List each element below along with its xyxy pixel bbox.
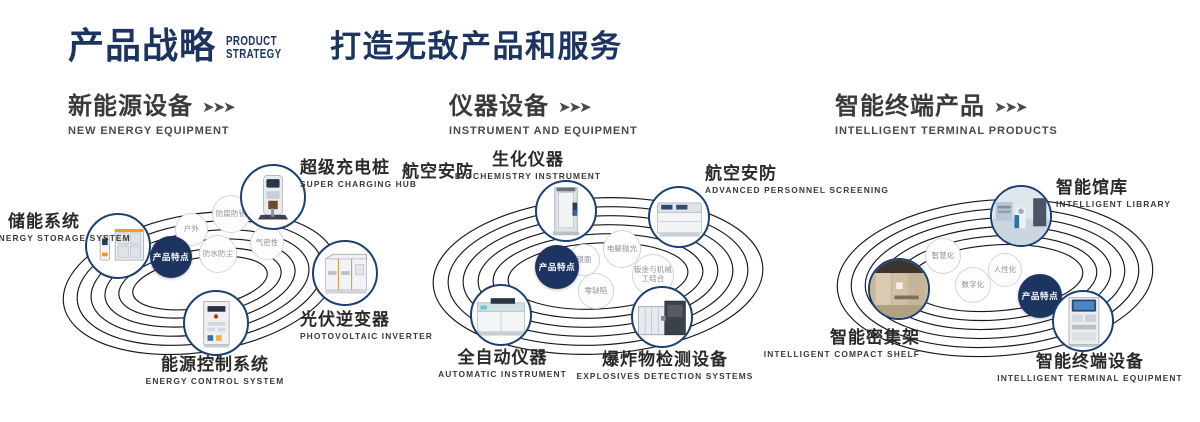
node-advanced-personnel-screening[interactable] (648, 186, 710, 248)
section-title-cn: 智能终端产品 (835, 95, 985, 119)
cluster-intelligent-terminal-products: 智慧化 数字化 人性化 产品特点 智能馆库 INTELLIGENT LIBRAR… (800, 150, 1200, 400)
label-intelligent-terminal-equipment: 智能终端设备 INTELLIGENT TERMINAL EQUIPMENT (980, 352, 1200, 383)
explosive-detector-icon (633, 288, 691, 346)
node-label-cn: 生化仪器 (438, 150, 618, 170)
section-title-en: INSTRUMENT AND EQUIPMENT (449, 125, 638, 137)
node-explosives-detection-systems[interactable] (631, 286, 693, 348)
compact-shelf-icon (870, 260, 928, 318)
feature-bubble: 零缺陷 (578, 273, 614, 309)
node-intelligent-library[interactable] (990, 185, 1052, 247)
node-super-charging-hub[interactable] (240, 164, 306, 230)
node-intelligent-compact-shelf[interactable] (868, 258, 930, 320)
cluster-new-energy-equipment: 户外 防腐防锈 防水防尘 气密性 产品特点 储能系统 ENERGY STORAG… (0, 150, 400, 400)
label-intelligent-compact-shelf: 智能密集架 INTELLIGENT COMPACT SHELF (760, 328, 920, 359)
feature-bubble: 防水防尘 (199, 235, 237, 273)
node-label-en: INTELLIGENT TERMINAL EQUIPMENT (980, 373, 1200, 384)
core-bubble-label: 产品特点 (539, 262, 575, 272)
title-english-line2: STRATEGY (226, 48, 281, 61)
page-subtitle: 打造无敌产品和服务 (330, 30, 623, 64)
cluster-instrument-equipment: 镜面 电解抛光 钣金与机械工结合 零缺陷 产品特点 航空安防 生化仪器 BIOC… (400, 150, 800, 400)
feature-bubble: 气密性 (250, 226, 284, 260)
node-label-en: BIOCHEMISTRY INSTRUMENT (438, 171, 618, 182)
chevron-right-icon: ➤➤➤ (202, 98, 234, 116)
node-label-cn: 能源控制系统 (110, 355, 320, 375)
section-heading-new-energy: 新能源设备 ➤➤➤ NEW ENERGY EQUIPMENT (68, 95, 234, 137)
node-label-cn: 智能密集架 (760, 328, 920, 348)
section-title-cn: 新能源设备 (68, 95, 193, 119)
core-bubble: 产品特点 (535, 245, 579, 289)
node-intelligent-terminal-equipment[interactable] (1052, 290, 1114, 352)
page-title: 产品战略 PRODUCT STRATEGY (68, 28, 297, 64)
node-energy-control-system[interactable] (183, 290, 249, 356)
title-chinese: 产品战略 (68, 28, 216, 64)
automatic-analyzer-icon (472, 286, 530, 344)
core-bubble-label: 产品特点 (153, 252, 189, 262)
charging-pile-icon (242, 166, 304, 228)
node-label-cn: 储能系统 (0, 212, 80, 232)
node-biochemistry-instrument[interactable] (535, 180, 597, 242)
section-heading-intelligent-terminal: 智能终端产品 ➤➤➤ INTELLIGENT TERMINAL PRODUCTS (835, 95, 1058, 137)
node-automatic-instrument[interactable] (470, 284, 532, 346)
feature-bubble: 数字化 (955, 267, 991, 303)
node-label-en: INTELLIGENT LIBRARY (1056, 199, 1196, 210)
screening-machine-icon (650, 188, 708, 246)
library-interior-icon (992, 187, 1050, 245)
scanner-gate-icon (537, 182, 595, 240)
node-label-en: ENERGY STORAGE SYSTEM (0, 233, 80, 244)
chevron-right-icon: ➤➤➤ (994, 98, 1026, 116)
chevron-right-icon: ➤➤➤ (558, 98, 590, 116)
section-title-cn: 仪器设备 (449, 95, 549, 119)
node-label-cn: 爆炸物检测设备 (560, 350, 770, 370)
core-bubble-label: 产品特点 (1022, 291, 1058, 301)
node-label-en: INTELLIGENT COMPACT SHELF (760, 349, 920, 360)
section-heading-instrument: 仪器设备 ➤➤➤ INSTRUMENT AND EQUIPMENT (449, 95, 638, 137)
feature-bubble: 智慧化 (925, 238, 961, 274)
label-explosives-detection-systems: 爆炸物检测设备 EXPLOSIVES DETECTION SYSTEMS (560, 350, 770, 381)
section-title-en: NEW ENERGY EQUIPMENT (68, 125, 234, 137)
self-service-kiosk-icon (1054, 292, 1112, 350)
node-energy-storage-system[interactable] (85, 213, 151, 279)
node-label-en: ENERGY CONTROL SYSTEM (110, 376, 320, 387)
node-label-cn: 智能终端设备 (980, 352, 1200, 372)
node-label-en: EXPLOSIVES DETECTION SYSTEMS (560, 371, 770, 382)
inverter-cabinet-icon (314, 242, 376, 304)
product-strategy-infographic: 产品战略 PRODUCT STRATEGY 打造无敌产品和服务 新能源设备 ➤➤… (0, 0, 1200, 422)
feature-bubble: 人性化 (988, 253, 1022, 287)
label-energy-control-system: 能源控制系统 ENERGY CONTROL SYSTEM (110, 355, 320, 386)
label-intelligent-library: 智能馆库 INTELLIGENT LIBRARY (1056, 178, 1196, 209)
section-title-en: INTELLIGENT TERMINAL PRODUCTS (835, 125, 1058, 137)
battery-cabinet-icon (87, 215, 149, 277)
node-label-cn: 智能馆库 (1056, 178, 1196, 198)
core-bubble: 产品特点 (150, 236, 192, 278)
label-biochemistry-instrument: 生化仪器 BIOCHEMISTRY INSTRUMENT (438, 150, 618, 181)
control-cabinet-icon (185, 292, 247, 354)
node-photovoltaic-inverter[interactable] (312, 240, 378, 306)
title-english: PRODUCT STRATEGY (226, 35, 281, 61)
label-energy-storage-system: 储能系统 ENERGY STORAGE SYSTEM (0, 212, 80, 243)
